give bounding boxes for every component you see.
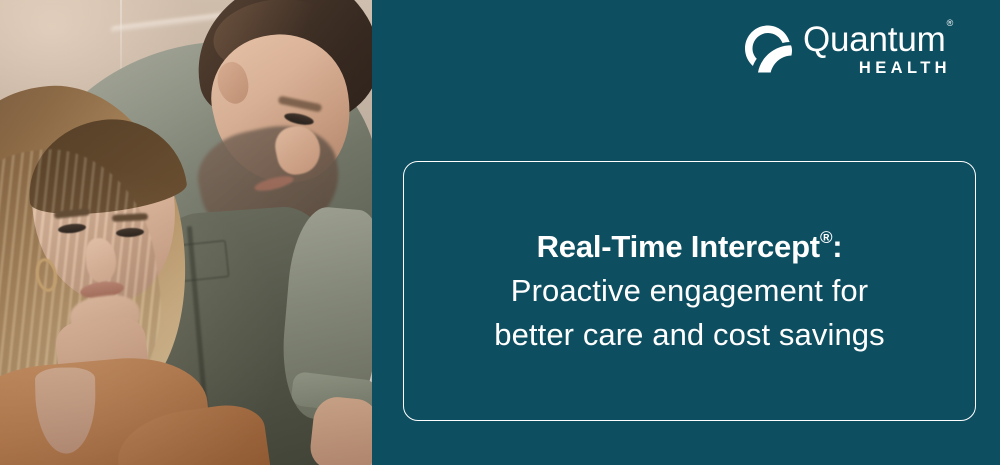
headline-callout-box: Real-Time Intercept®: Proactive engageme… bbox=[403, 161, 976, 421]
quantum-health-swoosh-mark bbox=[743, 24, 793, 74]
headline: Real-Time Intercept®: Proactive engageme… bbox=[480, 225, 899, 357]
headline-line-1: Real-Time Intercept®: bbox=[494, 225, 885, 269]
brand-wordmark-group: Quantum® HEALTH bbox=[803, 22, 952, 77]
man-forearm bbox=[308, 395, 372, 465]
brand-registered-icon: ® bbox=[947, 18, 953, 28]
content-panel: Quantum® HEALTH Real-Time Intercept®: Pr… bbox=[372, 0, 1000, 465]
hero-photo bbox=[0, 0, 372, 465]
headline-line-2: Proactive engagement for bbox=[494, 269, 885, 313]
headline-line-1-suffix: : bbox=[832, 229, 842, 264]
brand-logo: Quantum® HEALTH bbox=[743, 22, 952, 77]
brand-wordmark-text: Quantum bbox=[803, 20, 946, 59]
brand-wordmark: Quantum® bbox=[803, 22, 952, 57]
brand-subword: HEALTH bbox=[859, 60, 952, 77]
headline-line-3: better care and cost savings bbox=[494, 313, 885, 357]
headline-registered-icon: ® bbox=[820, 228, 832, 247]
marketing-slide: Quantum® HEALTH Real-Time Intercept®: Pr… bbox=[0, 0, 1000, 465]
headline-line-1-text: Real-Time Intercept bbox=[537, 229, 820, 264]
